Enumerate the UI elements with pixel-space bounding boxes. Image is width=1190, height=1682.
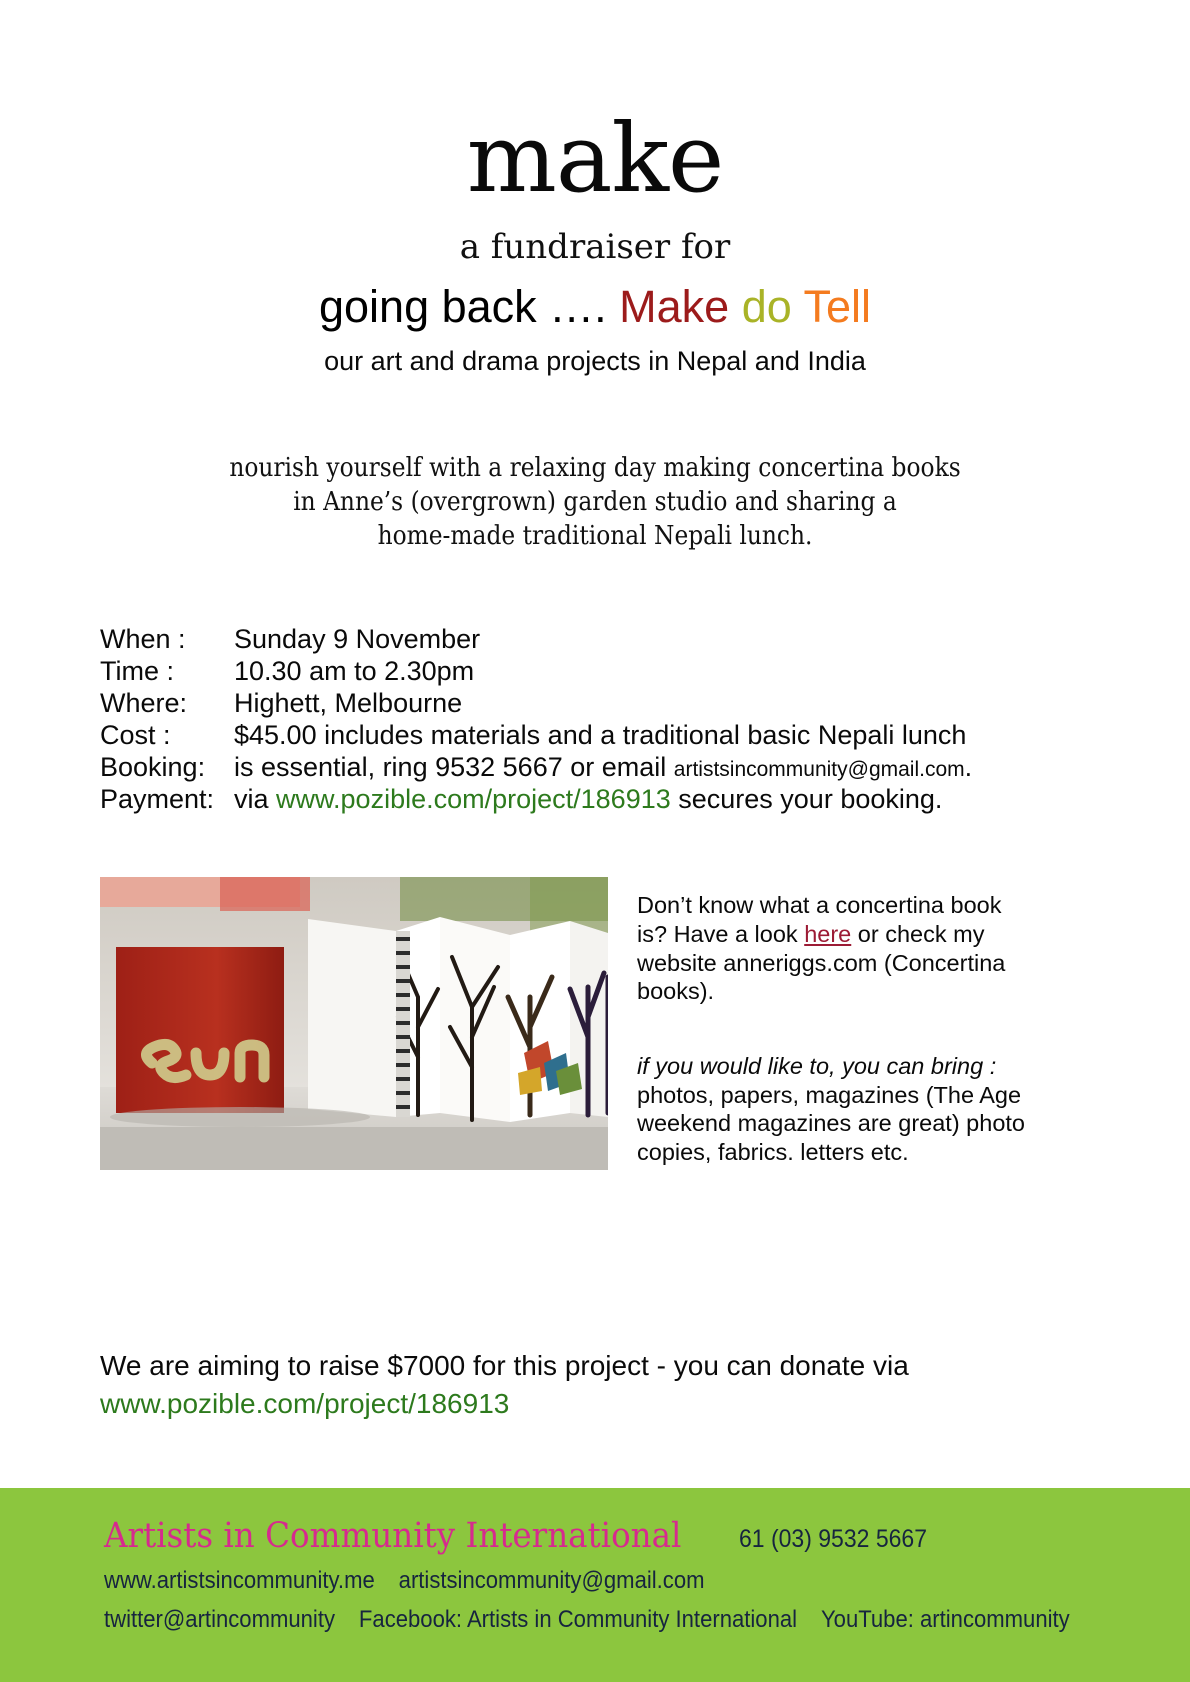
footer-twitter-handle[interactable]: twitter@artincommunity (104, 1606, 335, 1633)
footer-band: Artists in Community International 61 (0… (0, 1488, 1190, 1682)
detail-label-booking: Booking: (100, 751, 234, 783)
project-title-do: do (742, 281, 792, 332)
sidetext-paragraph-2: if you would like to, you can bring : ph… (637, 1052, 1027, 1167)
concertina-books-photo (100, 877, 608, 1170)
detail-value-time: 10.30 am to 2.30pm (234, 655, 1190, 687)
detail-label-where: Where: (100, 687, 234, 719)
intro-line-3: home-made traditional Nepali lunch. (71, 519, 1118, 553)
footer-organisation-name: Artists in Community International (104, 1516, 681, 1556)
sidetext-spacer (637, 1006, 1027, 1052)
booking-email[interactable]: artistsincommunity@gmail.com (674, 758, 965, 781)
project-title-tell: Tell (803, 281, 871, 332)
detail-row-payment: Payment: via www.pozible.com/project/186… (100, 783, 1190, 815)
fundraiser-subtitle: a fundraiser for (0, 229, 1190, 266)
footer-social-row: twitter@artincommunityFacebook: Artists … (104, 1606, 1103, 1634)
footer-email-link[interactable]: artistsincommunity@gmail.com (399, 1567, 705, 1594)
sidetext-paragraph-1: Don’t know what a concertina book is? Ha… (637, 891, 1027, 1006)
footer-website-link[interactable]: www.artistsincommunity.me (104, 1567, 375, 1594)
bring-list: photos, papers, magazines (The Age weeke… (637, 1082, 1025, 1165)
project-subtitle: our art and drama projects in Nepal and … (0, 346, 1190, 377)
payment-text-post: secures your booking. (671, 784, 943, 814)
footer-youtube-channel[interactable]: YouTube: artincommunity (821, 1606, 1070, 1633)
intro-paragraph: nourish yourself with a relaxing day mak… (71, 451, 1118, 553)
donation-text: We are aiming to raise $7000 for this pr… (100, 1347, 1190, 1384)
project-title: going back …. Make do Tell (0, 282, 1190, 332)
here-link[interactable]: here (804, 921, 851, 947)
detail-label-when: When : (100, 623, 234, 655)
page-title: make (0, 0, 1190, 207)
detail-row-booking: Booking: is essential, ring 9532 5667 or… (100, 751, 1190, 783)
donation-url-link[interactable]: www.pozible.com/project/186913 (100, 1385, 1190, 1422)
detail-row-cost: Cost : $45.00 includes materials and a t… (100, 719, 1190, 751)
flyer-page: make a fundraiser for going back …. Make… (0, 0, 1190, 1682)
project-title-make: Make (619, 281, 729, 332)
detail-label-payment: Payment: (100, 783, 234, 815)
detail-value-payment: via www.pozible.com/project/186913 secur… (234, 783, 1190, 815)
payment-text-pre: via (234, 784, 276, 814)
sidetext-block: Don’t know what a concertina book is? Ha… (637, 891, 1027, 1166)
detail-value-booking: is essential, ring 9532 5667 or email ar… (234, 751, 1190, 783)
bring-italic-lead: if you would like to, you can bring : (637, 1053, 996, 1079)
payment-url-link[interactable]: www.pozible.com/project/186913 (276, 784, 671, 814)
detail-label-time: Time : (100, 655, 234, 687)
photo-illustration (100, 877, 608, 1170)
detail-value-when: Sunday 9 November (234, 623, 1190, 655)
footer-phone-number: 61 (03) 9532 5667 (739, 1525, 927, 1554)
footer-facebook-page[interactable]: Facebook: Artists in Community Internati… (359, 1606, 797, 1633)
project-title-plain: going back …. (319, 281, 619, 332)
footer-title-row: Artists in Community International 61 (0… (104, 1516, 1190, 1556)
detail-row-where: Where: Highett, Melbourne (100, 687, 1190, 719)
booking-text-post: . (965, 752, 973, 782)
footer-content: Artists in Community International 61 (0… (0, 1488, 1190, 1634)
detail-value-cost: $45.00 includes materials and a traditio… (234, 719, 1190, 751)
intro-line-2: in Anne’s (overgrown) garden studio and … (71, 485, 1118, 519)
donation-callout: We are aiming to raise $7000 for this pr… (100, 1347, 1190, 1421)
detail-row-time: Time : 10.30 am to 2.30pm (100, 655, 1190, 687)
photo-and-sidetext-section: Don’t know what a concertina book is? Ha… (0, 877, 1190, 1177)
detail-row-when: When : Sunday 9 November (100, 623, 1190, 655)
detail-value-where: Highett, Melbourne (234, 687, 1190, 719)
event-details-list: When : Sunday 9 November Time : 10.30 am… (100, 623, 1190, 816)
detail-label-cost: Cost : (100, 719, 234, 751)
footer-web-row: www.artistsincommunity.meartistsincommun… (104, 1567, 1103, 1595)
intro-line-1: nourish yourself with a relaxing day mak… (71, 451, 1118, 485)
booking-text-pre: is essential, ring 9532 5667 or email (234, 752, 674, 782)
